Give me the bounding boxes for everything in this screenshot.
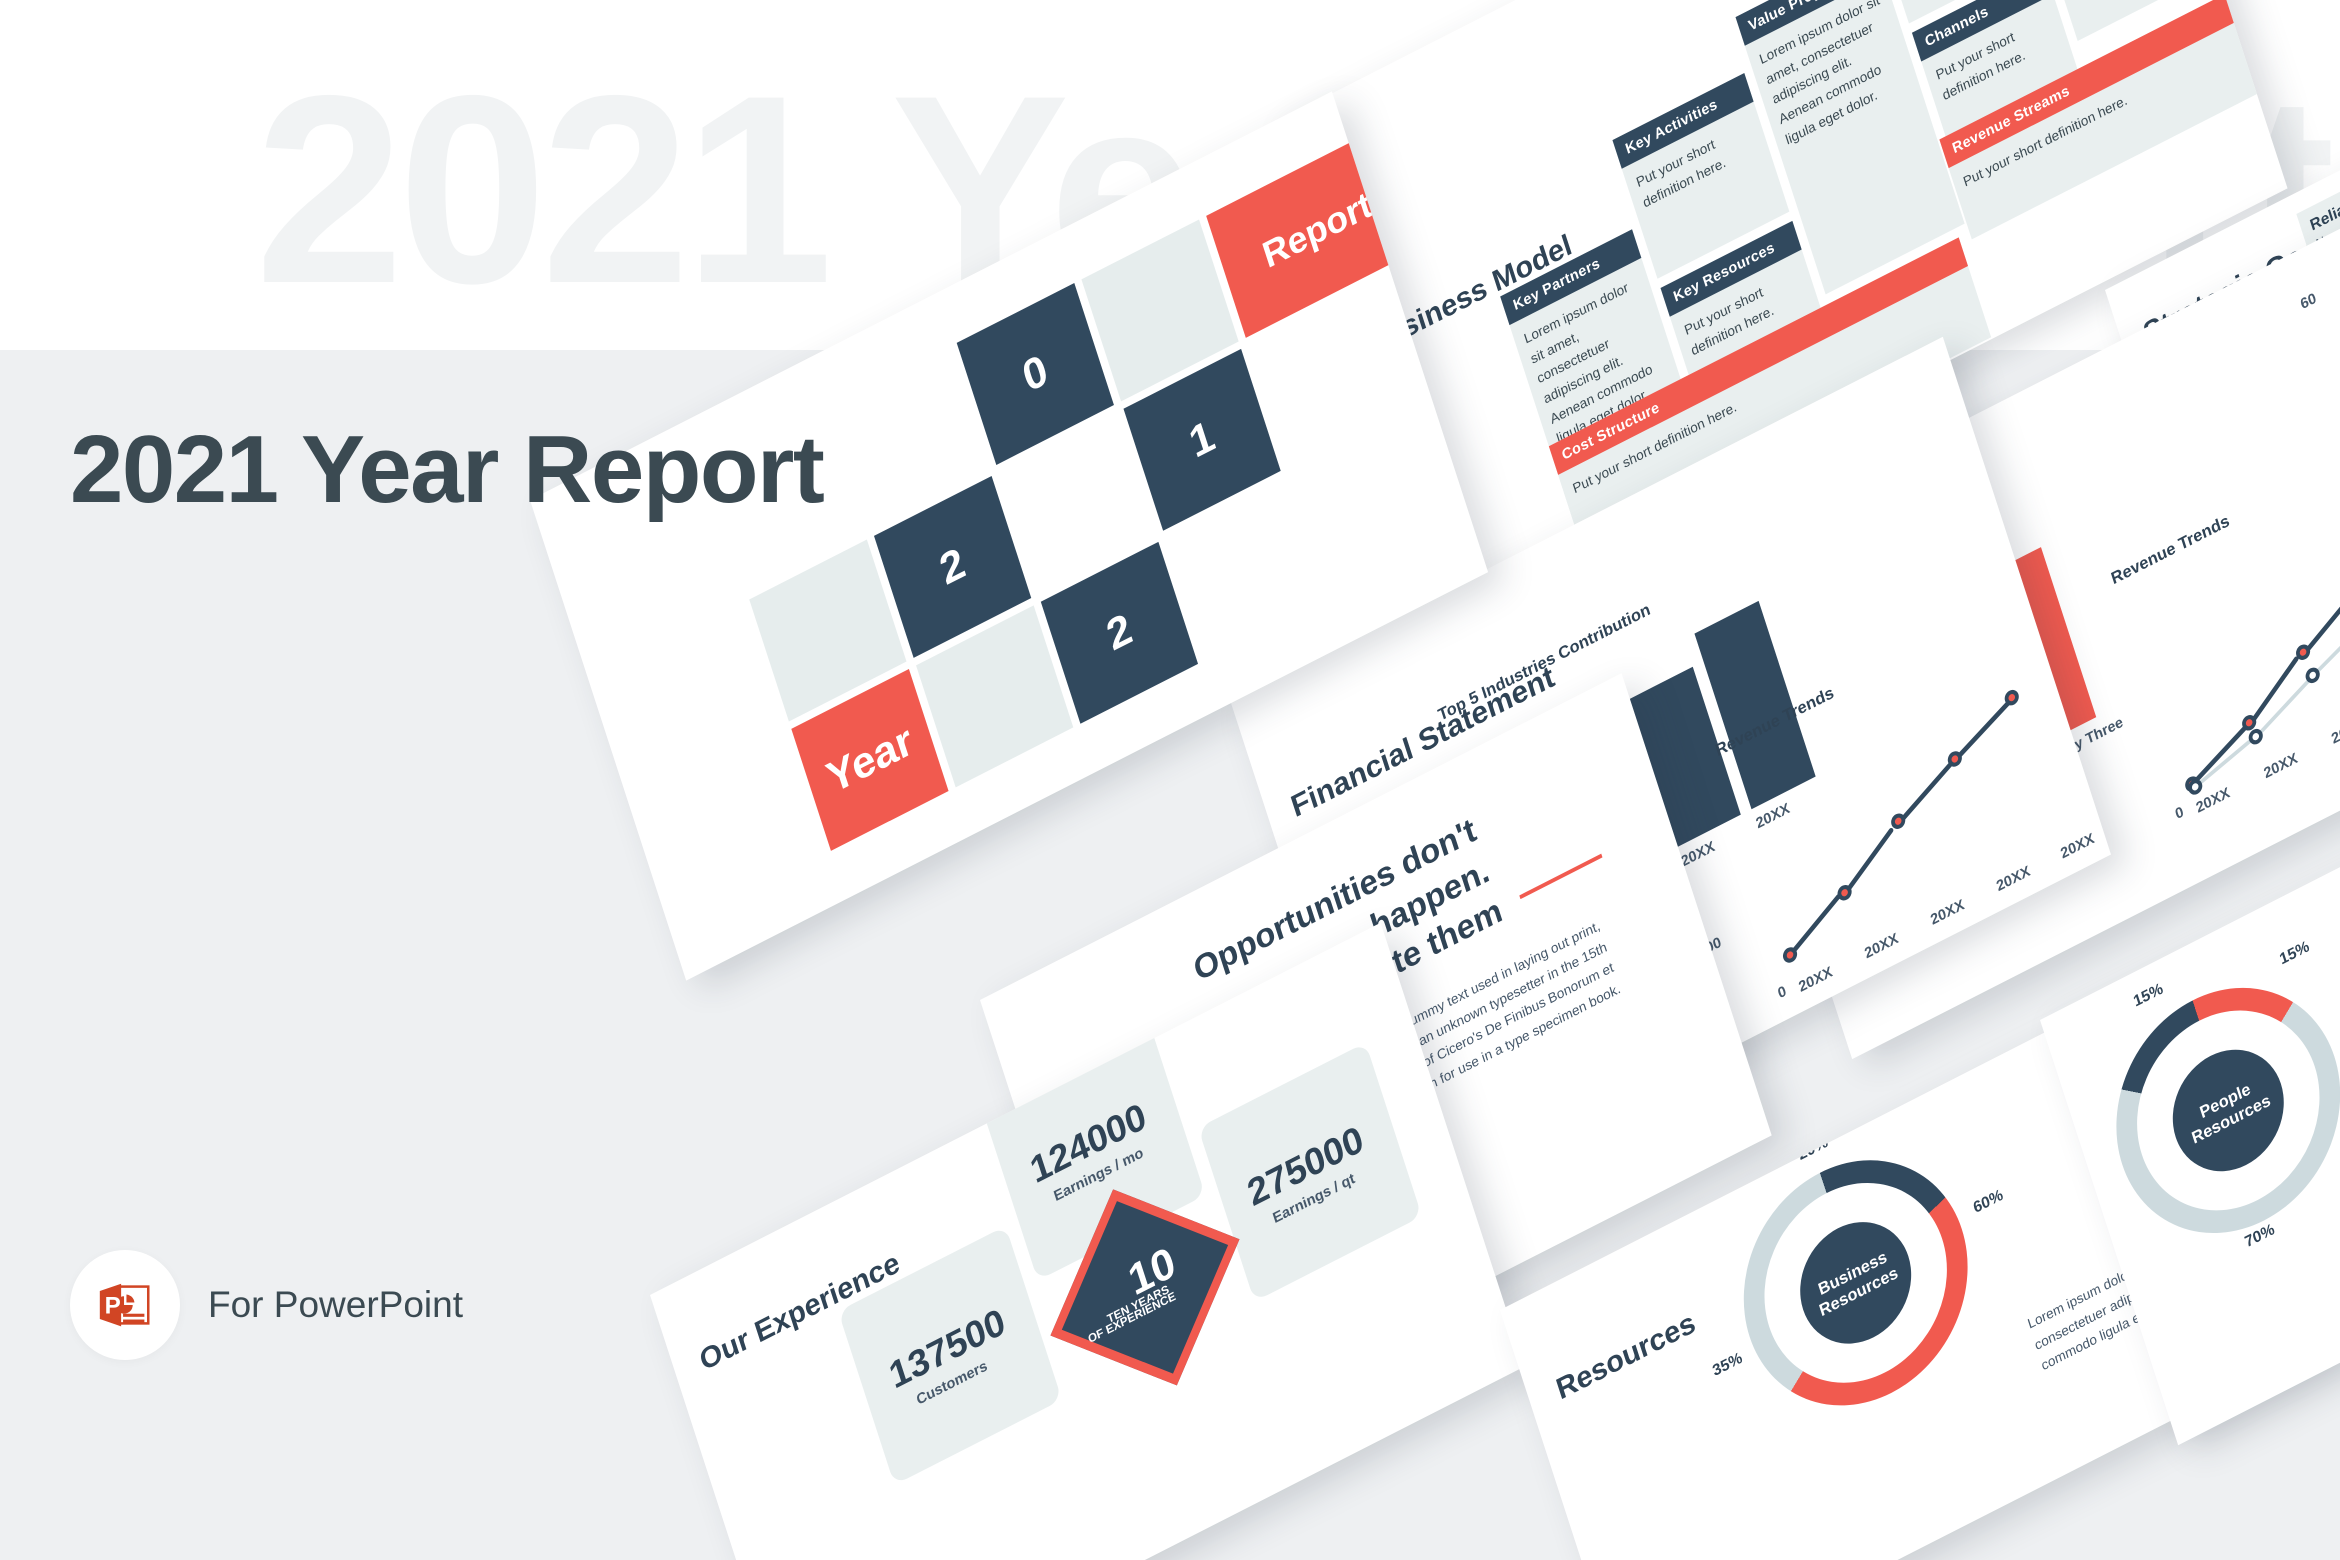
donut-pct: 20% xyxy=(1796,1134,1830,1165)
screenshot-root: 2021 Year Report Business Model Key Part… xyxy=(0,0,2340,1560)
line-ytick-min: 0 xyxy=(2173,803,2186,823)
tile-digit-0[interactable]: 0 xyxy=(957,283,1114,465)
tile-digit-2b[interactable]: 2 xyxy=(1041,542,1198,724)
donut-center-text: People Resources xyxy=(2170,1065,2287,1156)
badge-line-2: OF EXPERIENCE xyxy=(1087,1289,1178,1346)
donut-pct: 15% xyxy=(2132,980,2166,1011)
strategic-goal-label: Reliability xyxy=(2296,128,2340,242)
page-title: 2021 Year Report xyxy=(70,415,823,525)
brand-lockup: P For PowerPoint xyxy=(70,1250,463,1360)
donut-center-text: Business Resources xyxy=(1797,1237,1914,1328)
powerpoint-icon: P xyxy=(94,1274,156,1336)
svg-text:P: P xyxy=(105,1293,121,1320)
quote-divider xyxy=(1519,854,1602,899)
line-chart-revenue-2 xyxy=(2121,451,2340,800)
powerpoint-badge: P xyxy=(70,1250,180,1360)
resources-title: Resources xyxy=(1553,1306,1700,1407)
line-ytick-max: 60 xyxy=(2298,290,2318,313)
brand-label: For PowerPoint xyxy=(208,1284,463,1326)
donut-pct: 35% xyxy=(1711,1350,1745,1381)
donut-pct: 15% xyxy=(2278,938,2312,969)
donut-pct: 60% xyxy=(1971,1187,2005,1218)
line-ytick-min: 0 xyxy=(1776,983,1789,1003)
